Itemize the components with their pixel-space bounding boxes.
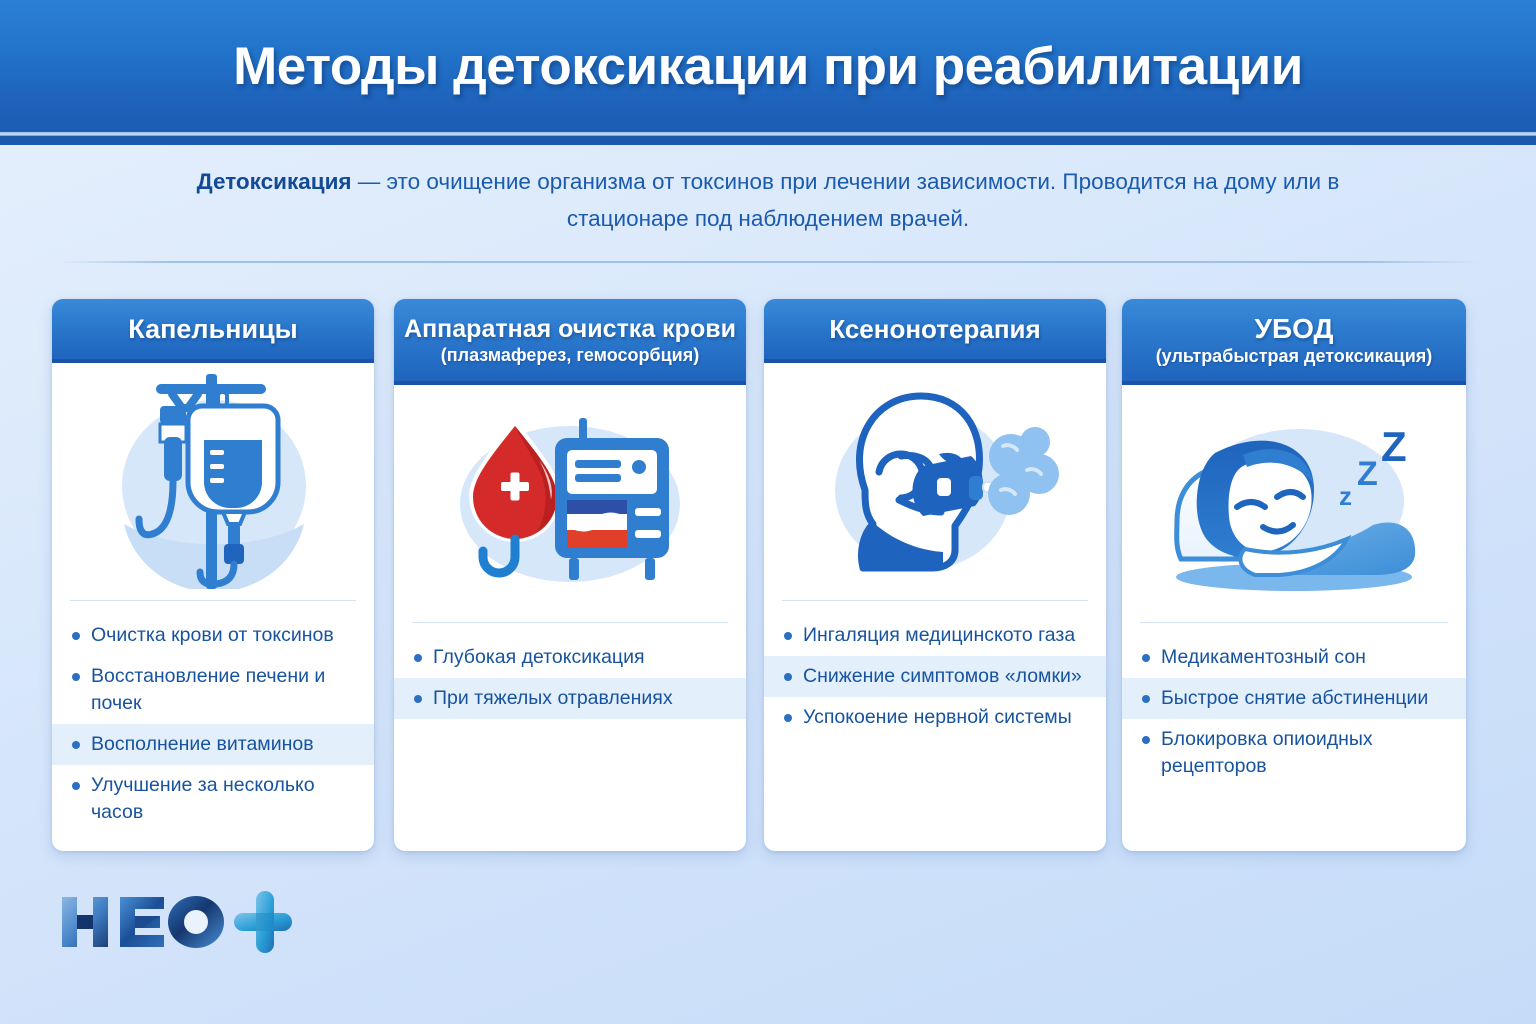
bullet-list: Медикаментозный сон Быстрое снятие абсти… xyxy=(1122,623,1466,851)
intro-rest-text: — это очищение организма от токсинов при… xyxy=(352,169,1340,231)
card-header-apparatnaya-ochistka-krovi: Аппаратная очистка крови (плазмаферез, г… xyxy=(394,299,746,385)
list-item[interactable]: Ингаляция медицинското газа xyxy=(764,615,1106,656)
list-item[interactable]: Быстрое снятие абстиненции xyxy=(1122,678,1466,719)
list-item[interactable]: Очистка крови от токсинов xyxy=(52,615,374,656)
list-item[interactable]: Снижение симптомов «ломки» xyxy=(764,656,1106,697)
list-item-label: Успокоение нервной системы xyxy=(803,704,1072,731)
bullet-list: Глубокая детоксикация При тяжелых отравл… xyxy=(394,623,746,851)
bullet-dot-icon xyxy=(72,673,80,681)
bullet-dot-icon xyxy=(784,714,792,722)
intro-paragraph: Детоксикация — это очищение организма от… xyxy=(168,163,1368,237)
list-item-label: Быстрое снятие абстиненции xyxy=(1161,685,1428,712)
card-header-ubod: УБОД (ультрабыстрая детоксикация) xyxy=(1122,299,1466,385)
iv-drip-icon xyxy=(52,363,374,600)
svg-text:Z: Z xyxy=(1357,455,1378,493)
bullet-dot-icon xyxy=(1142,695,1150,703)
list-item-label: Очистка крови от токсинов xyxy=(91,622,334,649)
bullet-dot-icon xyxy=(784,632,792,640)
card-header-ksenonoterapiya: Ксенонотерапия xyxy=(764,299,1106,363)
bullet-dot-icon xyxy=(414,695,422,703)
card-ubod[interactable]: УБОД (ультрабыстрая детоксикация) xyxy=(1122,299,1466,851)
list-item[interactable]: Медикаментозный сон xyxy=(1122,637,1466,678)
oxygen-mask-head-icon xyxy=(764,363,1106,600)
bullet-list: Очистка крови от токсинов Восстановление… xyxy=(52,601,374,851)
card-apparatnaya-ochistka-krovi[interactable]: Аппаратная очистка крови (плазмаферез, г… xyxy=(394,299,746,851)
list-item-label: Медикаментозный сон xyxy=(1161,644,1366,671)
list-item-label: Восстановление печени и почек xyxy=(91,663,358,717)
bullet-dot-icon xyxy=(1142,654,1150,662)
list-item[interactable]: Глубокая детоксикация xyxy=(394,637,746,678)
bullet-dot-icon xyxy=(784,673,792,681)
card-title: Ксенонотерапия xyxy=(829,314,1040,345)
page-title: Методы детоксикации при реабилитации xyxy=(233,36,1303,97)
header-accent-stripe xyxy=(0,132,1536,141)
list-item-label: Улучшение за несколько часов xyxy=(91,772,358,826)
card-title: Аппаратная очистка крови xyxy=(404,315,736,344)
card-header-kapelnitsy: Капельницы xyxy=(52,299,374,363)
card-ksenonoterapiya[interactable]: Ксенонотерапия xyxy=(764,299,1106,851)
sleeping-patient-icon: z Z Z xyxy=(1122,385,1466,622)
bullet-dot-icon xyxy=(72,632,80,640)
card-kapelnitsy[interactable]: Капельницы xyxy=(52,299,374,851)
list-item-label: Ингаляция медицинското газа xyxy=(803,622,1075,649)
card-subtitle: (плазмаферез, гемосорбция) xyxy=(441,345,699,366)
list-item[interactable]: Блокировка опиоидных рецепторов xyxy=(1122,719,1466,787)
method-cards-container: Капельницы xyxy=(0,299,1536,855)
neo-plus-logo[interactable] xyxy=(58,891,298,953)
list-item[interactable]: Восстановление печени и почек xyxy=(52,656,374,724)
card-title: Капельницы xyxy=(128,314,297,345)
list-item-label: При тяжелых отравлениях xyxy=(433,685,673,712)
list-item[interactable]: Восполнение витаминов xyxy=(52,724,374,765)
bullet-dot-icon xyxy=(72,782,80,790)
bullet-dot-icon xyxy=(72,741,80,749)
svg-text:Z: Z xyxy=(1381,423,1407,470)
blood-machine-icon xyxy=(394,385,746,622)
intro-lead-word: Детоксикация xyxy=(197,169,352,194)
card-title: УБОД xyxy=(1255,313,1334,345)
list-item-label: Снижение симптомов «ломки» xyxy=(803,663,1082,690)
header-accent-stripe-lower xyxy=(0,141,1536,145)
section-divider xyxy=(56,261,1480,263)
list-item-label: Восполнение витаминов xyxy=(91,731,314,758)
card-subtitle: (ультрабыстрая детоксикация) xyxy=(1156,346,1433,367)
bullet-dot-icon xyxy=(414,654,422,662)
list-item[interactable]: Улучшение за несколько часов xyxy=(52,765,374,833)
svg-text:z: z xyxy=(1339,481,1352,511)
list-item-label: Глубокая детоксикация xyxy=(433,644,645,671)
list-item[interactable]: Успокоение нервной системы xyxy=(764,697,1106,738)
list-item[interactable]: При тяжелых отравлениях xyxy=(394,678,746,719)
bullet-list: Ингаляция медицинското газа Снижение сим… xyxy=(764,601,1106,851)
list-item-label: Блокировка опиоидных рецепторов xyxy=(1161,726,1450,780)
page-header: Методы детоксикации при реабилитации xyxy=(0,0,1536,132)
bullet-dot-icon xyxy=(1142,736,1150,744)
